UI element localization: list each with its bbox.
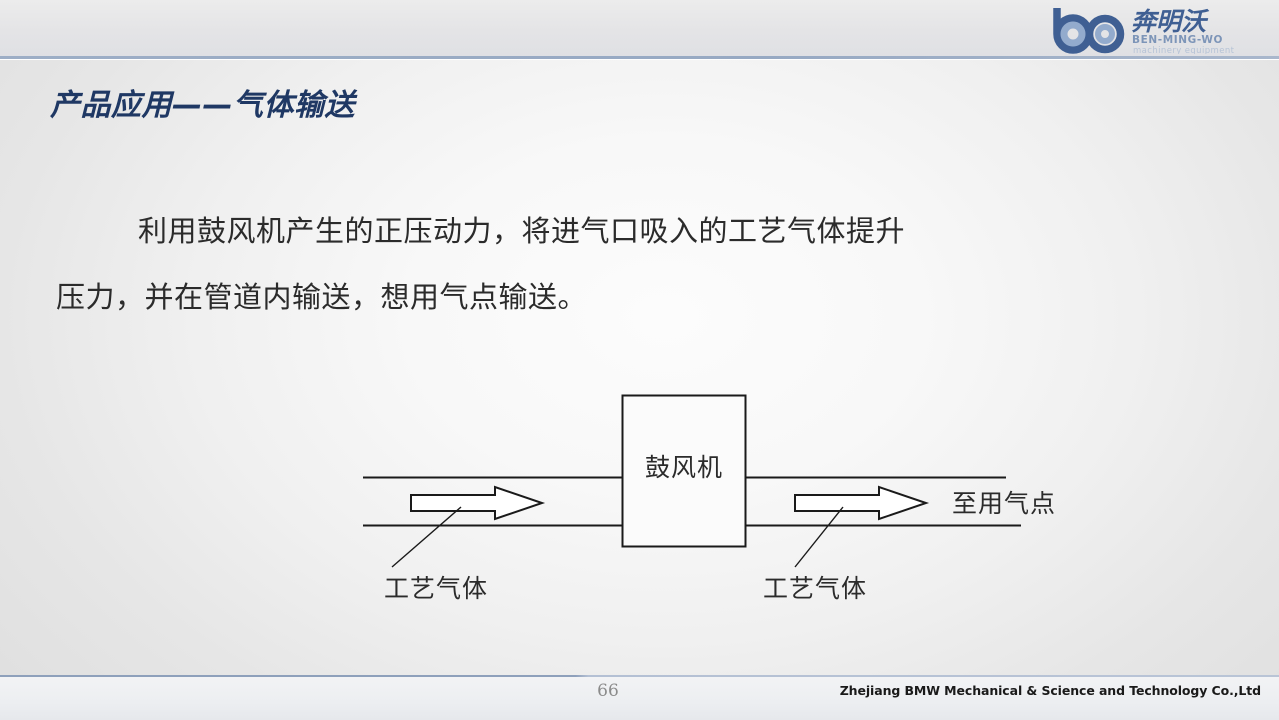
bo-monogram-icon (1057, 8, 1121, 50)
leader-line-right (795, 507, 843, 567)
slide-title: 产品应用——气体输送 (50, 80, 355, 124)
company-name: Zhejiang BMW Mechanical & Science and Te… (840, 683, 1261, 698)
leader-line-left (392, 507, 461, 567)
inlet-label: 工艺气体 (384, 574, 488, 603)
slide-canvas: 奔明沃 BEN-MING-WO machinery equipment 产品应用… (0, 0, 1279, 720)
logo-tagline: machinery equipment (1133, 46, 1235, 54)
outlet-label: 工艺气体 (763, 574, 867, 603)
blower-box (623, 396, 746, 547)
slide-body: 利用鼓风机产生的正压动力，将进气口吸入的工艺气体提升 压力，并在管道内输送，想用… (56, 198, 1036, 330)
logo-romanized-name: BEN-MING-WO (1132, 34, 1223, 46)
destination-label: 至用气点 (952, 489, 1056, 518)
footer-divider (0, 675, 1279, 677)
header-divider (0, 56, 1279, 59)
logo-chinese-name: 奔明沃 (1131, 7, 1210, 36)
body-line-1: 利用鼓风机产生的正压动力，将进气口吸入的工艺气体提升 (138, 214, 905, 248)
blower-box-label: 鼓风机 (645, 453, 723, 482)
company-logo: 奔明沃 BEN-MING-WO machinery equipment (1053, 4, 1267, 54)
flow-arrow-left (411, 487, 542, 519)
flow-arrow-right (795, 487, 926, 519)
body-line-2: 压力，并在管道内输送，想用气点输送。 (56, 280, 587, 314)
